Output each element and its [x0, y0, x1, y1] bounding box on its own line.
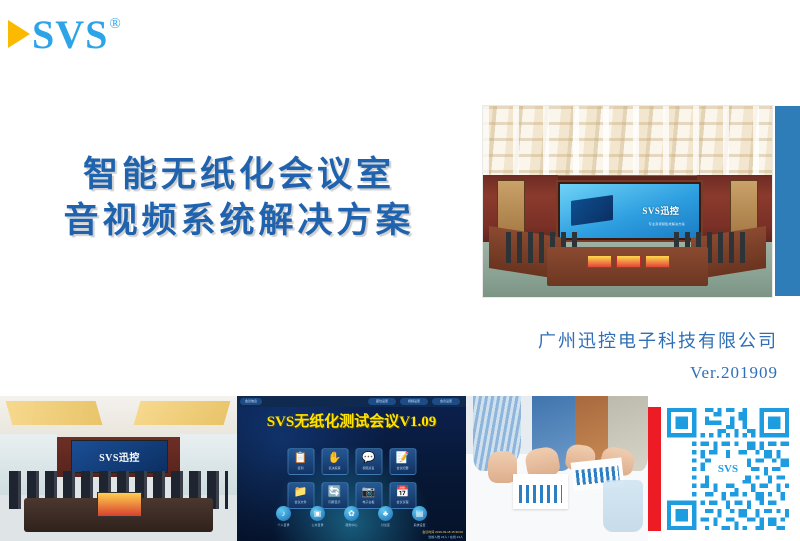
red-accent-bar — [648, 407, 661, 531]
ui-dock-label: 服务中心 — [341, 523, 363, 527]
ui-dock-discussion[interactable]: ♣ 讨论区 — [375, 506, 397, 527]
hero-conference-room-image: SVS迅控 专业音视频集成解决方案 — [483, 106, 772, 297]
right-accent-bar — [775, 106, 800, 296]
calendar-icon: 📅 — [396, 487, 410, 498]
title-line-2: 音视频系统解决方案 — [0, 198, 478, 244]
table-terminal-1 — [587, 255, 612, 268]
ui-tile-agenda[interactable]: 📅 会议议程 — [389, 482, 416, 509]
ui-dock-public-dir[interactable]: ▣ 公共目录 — [307, 506, 329, 527]
strip-terminal — [97, 492, 142, 517]
ui-tile-label: 会议纪要 — [396, 466, 408, 470]
chart-paper-1 — [513, 474, 568, 509]
ui-tile-signin[interactable]: 📋 签到 — [287, 448, 314, 475]
ui-tile-label: 签到 — [297, 466, 303, 470]
play-triangle-icon — [8, 20, 30, 48]
slide-root: SVS ® 智能无纸化会议室 音视频系统解决方案 SVS迅控 专业音视频集成解决… — [0, 0, 800, 541]
ui-tile-label: 会议文件 — [294, 500, 306, 504]
ui-tile-label: 视频点名 — [362, 466, 374, 470]
water-glass — [603, 480, 643, 532]
ui-status-area: 会议时间 2019-09-18 15:30:00 当前人数 24人 / 在线 2… — [422, 530, 463, 539]
ui-dock-label: 公共目录 — [307, 523, 329, 527]
ceiling-lights — [483, 106, 772, 177]
ui-dock-bar: ♪ 个人目录 ▣ 公共目录 ✿ 服务中心 ♣ 讨论区 ▤ 系统设置 — [273, 506, 431, 527]
ui-status-line-1: 会议时间 2019-09-18 15:30:00 — [422, 530, 463, 535]
ui-tile-files[interactable]: 📁 会议文件 — [287, 482, 314, 509]
ui-status-line-2: 当前人数 24人 / 在线 24人 — [422, 535, 463, 540]
strip-software-ui: 会议信息 座位设置 视频设置 会议设置 SVS无纸化测试会议V1.09 📋 签到… — [237, 396, 466, 541]
hand-icon: ✋ — [328, 453, 342, 464]
ui-meeting-settings-button[interactable]: 会议设置 — [432, 398, 460, 405]
people-icon: ♣ — [378, 506, 393, 521]
ui-dock-label: 系统设置 — [409, 523, 431, 527]
strip-photo-discussion — [466, 396, 648, 541]
ui-tile-screenshare[interactable]: 🔄 同屏显示 — [321, 482, 348, 509]
camera-icon: 📷 — [362, 487, 376, 498]
table-terminal-3 — [645, 255, 670, 268]
ui-tile-whiteboard[interactable]: 📷 电子白板 — [355, 482, 382, 509]
table-terminal-2 — [616, 255, 641, 268]
ui-meeting-info-button[interactable]: 会议信息 — [240, 398, 262, 405]
note-icon: 📝 — [396, 453, 410, 464]
ui-tile-minutes[interactable]: 📝 会议纪要 — [389, 448, 416, 475]
registered-trademark-icon: ® — [109, 16, 120, 33]
refresh-icon: 🔄 — [328, 487, 342, 498]
ui-dock-service-center[interactable]: ✿ 服务中心 — [341, 506, 363, 527]
screen-brand-text: SVS迅控 — [642, 207, 679, 216]
ui-tile-label: 会议议程 — [396, 500, 408, 504]
chat-icon: 💬 — [362, 453, 376, 464]
ui-function-grid: 📋 签到 ✋ 表决投票 💬 视频点名 📝 会议纪要 📁 会议文件 — [287, 448, 416, 509]
ui-tile-vote[interactable]: ✋ 表决投票 — [321, 448, 348, 475]
ui-top-bar: 会议信息 座位设置 视频设置 会议设置 — [237, 396, 466, 407]
ui-video-settings-button[interactable]: 视频设置 — [400, 398, 428, 405]
ui-dock-personal-dir[interactable]: ♪ 个人目录 — [273, 506, 295, 527]
qr-block: SVS — [648, 396, 800, 541]
version-label: Ver.201909 — [538, 363, 778, 383]
svs-logo: SVS ® — [8, 12, 120, 56]
ui-dock-label: 讨论区 — [375, 523, 397, 527]
qr-center-logo: SVS — [711, 458, 745, 480]
ui-tile-label: 电子白板 — [362, 500, 374, 504]
logo-wordmark: SVS — [32, 15, 108, 55]
ui-tile-label: 同屏显示 — [328, 500, 340, 504]
ui-dock-label: 个人目录 — [273, 523, 295, 527]
ui-seat-settings-button[interactable]: 座位设置 — [368, 398, 396, 405]
bottom-image-strip: SVS迅控 会议信息 座位设置 视频设置 会议设置 SVS无纸化测试会议V1.0… — [0, 396, 800, 541]
strip-photo-meeting-room: SVS迅控 — [0, 396, 237, 541]
screen-sub-text: 专业音视频集成解决方案 — [649, 222, 685, 226]
folder-icon: 📁 — [294, 487, 308, 498]
flower-icon: ✿ — [344, 506, 359, 521]
grid-icon: ▣ — [310, 506, 325, 521]
ui-dock-system-settings[interactable]: ▤ 系统设置 — [409, 506, 431, 527]
title-line-1: 智能无纸化会议室 — [0, 152, 478, 198]
strip-screen-text: SVS迅控 — [99, 449, 140, 464]
screen-graphic — [571, 195, 613, 225]
strip-screen: SVS迅控 — [71, 440, 168, 474]
bar-chart-graphic — [519, 485, 563, 502]
ui-tile-video-rollcall[interactable]: 💬 视频点名 — [355, 448, 382, 475]
ui-app-title: SVS无纸化测试会议V1.09 — [237, 410, 466, 431]
clipboard-icon: 📋 — [294, 453, 308, 464]
list-icon: ▤ — [412, 506, 427, 521]
qr-code[interactable]: SVS — [667, 408, 789, 530]
music-note-icon: ♪ — [276, 506, 291, 521]
page-title: 智能无纸化会议室 音视频系统解决方案 — [0, 152, 478, 244]
company-info: 广州迅控电子科技有限公司 Ver.201909 — [538, 328, 778, 383]
ui-tile-label: 表决投票 — [328, 466, 340, 470]
company-name: 广州迅控电子科技有限公司 — [538, 328, 778, 355]
